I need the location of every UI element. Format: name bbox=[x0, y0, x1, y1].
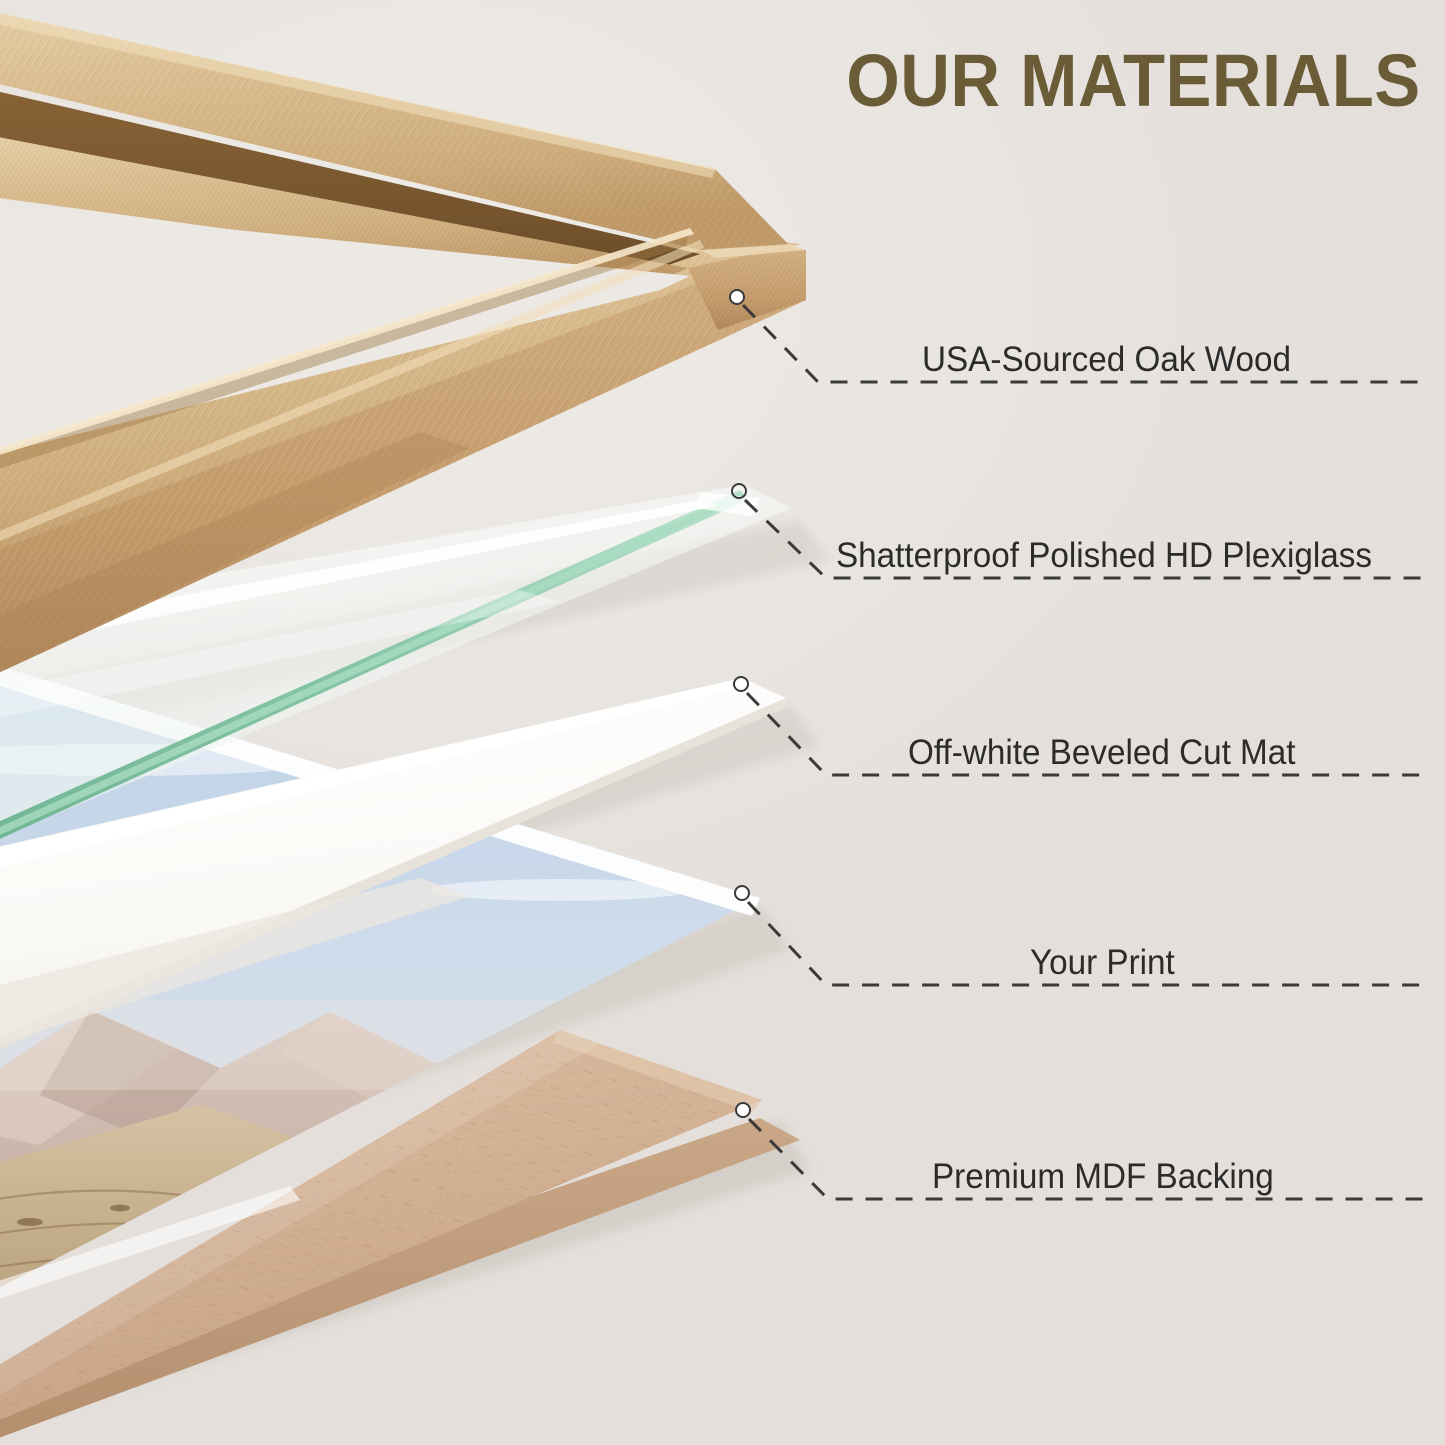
callout-marker-print[interactable] bbox=[734, 885, 750, 901]
callout-marker-mdf[interactable] bbox=[735, 1102, 751, 1118]
callout-label-mdf: Premium MDF Backing bbox=[932, 1157, 1274, 1197]
callout-label-plexiglass: Shatterproof Polished HD Plexiglass bbox=[836, 536, 1372, 576]
callout-marker-oak-wood[interactable] bbox=[729, 289, 745, 305]
callout-marker-plexiglass[interactable] bbox=[731, 483, 747, 499]
callout-marker-mat[interactable] bbox=[733, 676, 749, 692]
frame-exploded-illustration bbox=[0, 0, 1445, 1445]
callout-label-mat: Off-white Beveled Cut Mat bbox=[908, 733, 1295, 773]
callout-label-oak-wood: USA-Sourced Oak Wood bbox=[922, 340, 1291, 380]
callout-label-print: Your Print bbox=[1030, 943, 1175, 983]
infographic-canvas: OUR MATERIALS USA-Sourced Oak Wood Shatt… bbox=[0, 0, 1445, 1445]
page-title: OUR MATERIALS bbox=[847, 44, 1421, 118]
